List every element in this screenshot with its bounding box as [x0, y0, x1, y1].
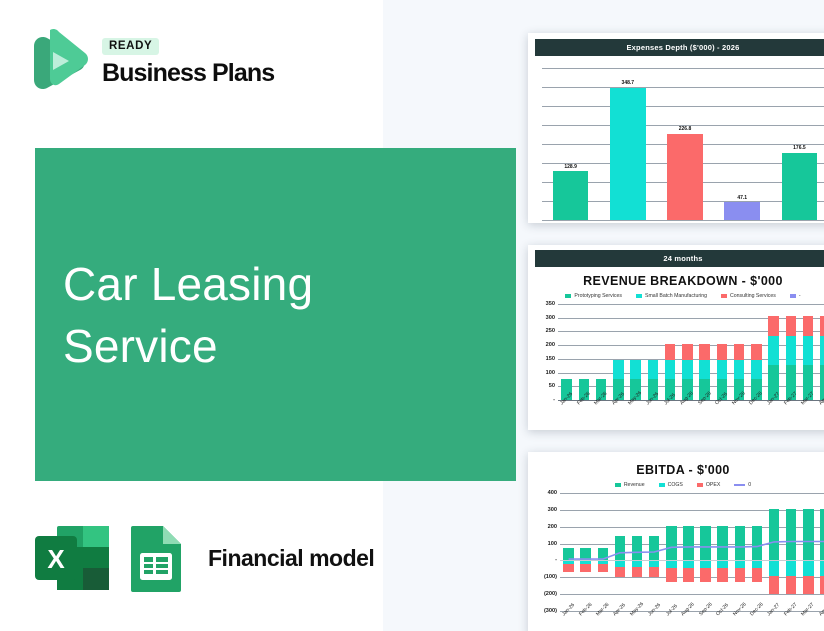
y-axis-tick: - [555, 557, 557, 563]
x-label-slot: Apr-26 [611, 611, 628, 619]
x-label-slot: Dec-26 [748, 611, 765, 619]
expenses-chart-band: Expenses Depth ($'000) - 2026 [535, 39, 824, 56]
x-label-slot: Jun-26 [644, 400, 661, 408]
bar: 348.7 [610, 88, 645, 221]
bar-slot [593, 304, 610, 400]
stacked-bar [803, 316, 814, 400]
ebitda-plot-area: 400300200100-(100)(200)(300) [560, 493, 824, 611]
legend-item: Small Batch Manufacturing [636, 293, 707, 299]
bar-segment [717, 344, 728, 360]
y-axis-tick: 200 [546, 342, 555, 348]
y-axis-tick: 400 [548, 490, 557, 496]
y-axis-tick: 250 [546, 328, 555, 334]
x-label-slot: Jul-26 [663, 611, 680, 619]
x-label-slot: Feb-27 [783, 611, 800, 619]
x-axis-labels: Jan-26Feb-26Mar-26Apr-26May-26Jun-26Jul-… [560, 611, 824, 619]
bar-segment [820, 316, 824, 336]
x-label-slot: Feb-26 [575, 400, 592, 408]
legend-color-swatch [721, 294, 727, 298]
legend-label: Small Batch Manufacturing [645, 293, 707, 299]
x-label-slot: Apr-27 [817, 400, 824, 408]
x-label-slot: Mar-27 [800, 611, 817, 619]
bar-slot [731, 304, 748, 400]
bar-segment [699, 344, 710, 360]
bar-segment [648, 360, 659, 379]
x-label-slot: Aug-26 [679, 400, 696, 408]
bar-segment [665, 360, 676, 379]
bar-group [558, 304, 824, 400]
google-sheets-icon [125, 522, 187, 594]
bar: 226.8 [667, 134, 702, 220]
bar-segment [682, 344, 693, 360]
bar-segment [665, 344, 676, 360]
stacked-bar [768, 316, 779, 400]
y-axis-tick: - [553, 397, 555, 403]
bar-segment [734, 360, 745, 379]
x-label-slot: Mar-27 [800, 400, 817, 408]
bar-segment [682, 360, 693, 379]
bar-slot [627, 304, 644, 400]
bar-value-label: 348.7 [622, 80, 635, 86]
bar-segment [803, 336, 814, 365]
revenue-x-axis: Jan-26Feb-26Mar-26Apr-26May-26Jun-26Jul-… [558, 400, 824, 430]
bar-slot [558, 304, 575, 400]
x-label-slot: Mar-26 [593, 400, 610, 408]
bar-slot [800, 304, 817, 400]
revenue-chart-band: 24 months [535, 250, 824, 267]
legend-line-marker [734, 484, 745, 486]
bar-slot [748, 304, 765, 400]
bar-segment [768, 336, 779, 365]
x-label-slot: May-26 [627, 400, 644, 408]
bar-segment [751, 360, 762, 379]
bar-slot [765, 304, 782, 400]
legend-label: OPEX [706, 482, 720, 488]
legend-item: Revenue [615, 482, 645, 488]
legend-item: - [790, 293, 801, 299]
x-label-slot: Nov-26 [731, 611, 748, 619]
chart-card-ebitda[interactable]: EBITDA - $'000 RevenueCOGSOPEX0 40030020… [528, 452, 824, 631]
y-axis-tick: 150 [546, 356, 555, 362]
legend-color-swatch [790, 294, 796, 298]
x-label-slot: Jul-26 [662, 400, 679, 408]
hero-panel: Car Leasing Service [35, 148, 516, 481]
bar: 176.5 [782, 153, 817, 220]
bar-slot [696, 304, 713, 400]
y-axis-tick: (200) [544, 591, 557, 597]
chart-card-expenses[interactable]: Expenses Depth ($'000) - 2026 128.9348.7… [528, 33, 824, 223]
revenue-plot-area: 35030025020015010050- [558, 304, 824, 400]
bar-slot: 176.5 [771, 68, 824, 220]
bar-segment [699, 360, 710, 379]
brand-name: Business Plans [102, 60, 274, 86]
x-label-slot: Dec-26 [748, 400, 765, 408]
legend-color-swatch [697, 483, 703, 487]
legend-color-swatch [615, 483, 621, 487]
legend-label: Revenue [624, 482, 645, 488]
footer-row: X Financial model [33, 522, 374, 594]
revenue-chart-title: REVENUE BREAKDOWN - $'000 [528, 267, 824, 290]
x-label-slot: Nov-26 [731, 400, 748, 408]
x-label-slot: Feb-26 [577, 611, 594, 619]
x-label-slot: Jun-26 [646, 611, 663, 619]
stacked-bar [786, 316, 797, 400]
bar-segment [786, 316, 797, 336]
brand-lockup: READY Business Plans [28, 26, 274, 96]
bar-slot [662, 304, 679, 400]
bar-group: 128.9348.7226.847.1176.5 [542, 68, 824, 220]
svg-text:X: X [47, 544, 65, 574]
stacked-bar [665, 344, 676, 400]
ebitda-x-axis: Jan-26Feb-26Mar-26Apr-26May-26Jun-26Jul-… [560, 611, 824, 631]
chart-card-revenue[interactable]: 24 months REVENUE BREAKDOWN - $'000 Prot… [528, 245, 824, 430]
play-triangle-logo-icon [28, 26, 90, 96]
slide-root: READY Business Plans Car Leasing Service… [0, 0, 824, 631]
bar-segment [803, 316, 814, 336]
y-axis-tick: (100) [544, 574, 557, 580]
bar-slot [817, 304, 824, 400]
legend-item: 0 [734, 482, 751, 488]
bar-segment [734, 344, 745, 360]
y-axis-tick: (300) [544, 608, 557, 614]
x-label-slot: Jan-26 [560, 611, 577, 619]
y-axis-tick: 100 [546, 370, 555, 376]
bar-segment [613, 360, 624, 379]
bar-value-label: 176.5 [793, 145, 806, 151]
x-label-slot: Jan-26 [558, 400, 575, 408]
legend-label: Prototyping Services [574, 293, 622, 299]
legend-item: Prototyping Services [565, 293, 622, 299]
bar-value-label: 47.1 [737, 195, 747, 201]
microsoft-excel-icon: X [33, 522, 113, 594]
y-axis-tick: 300 [548, 507, 557, 513]
x-label-slot: Sep-26 [696, 400, 713, 408]
x-label-slot: Mar-26 [594, 611, 611, 619]
bar-slot [679, 304, 696, 400]
x-label-slot: Oct-26 [713, 400, 730, 408]
x-axis-labels: Jan-26Feb-26Mar-26Apr-26May-26Jun-26Jul-… [558, 400, 824, 408]
x-label-slot: Jan-27 [766, 611, 783, 619]
revenue-chart-legend: Prototyping ServicesSmall Batch Manufact… [528, 290, 824, 301]
bar-segment [630, 360, 641, 379]
bar-slot [575, 304, 592, 400]
ebitda-chart-title: EBITDA - $'000 [528, 452, 824, 479]
legend-color-swatch [565, 294, 571, 298]
legend-label: 0 [748, 482, 751, 488]
bar-segment [768, 316, 779, 336]
bar-value-label: 226.8 [679, 126, 692, 132]
y-axis-tick: 300 [546, 315, 555, 321]
page-title: Car Leasing Service [63, 254, 313, 377]
y-axis-tick: 100 [548, 541, 557, 547]
x-label-slot: Oct-26 [714, 611, 731, 619]
bar-value-label: 128.9 [564, 164, 577, 170]
expenses-plot-area: 128.9348.7226.847.1176.5 [542, 68, 824, 220]
x-label-slot: May-26 [629, 611, 646, 619]
bar-segment [717, 360, 728, 379]
legend-color-swatch [659, 483, 665, 487]
stacked-bar [820, 316, 824, 400]
bar-slot [644, 304, 661, 400]
legend-color-swatch [636, 294, 642, 298]
x-label-slot: Apr-27 [817, 611, 824, 619]
bar-slot: 348.7 [599, 68, 656, 220]
legend-item: Consulting Services [721, 293, 776, 299]
bar-slot: 226.8 [656, 68, 713, 220]
bar-slot: 128.9 [542, 68, 599, 220]
x-label-slot: Feb-27 [782, 400, 799, 408]
x-label-slot: Apr-26 [610, 400, 627, 408]
brand-text: READY Business Plans [102, 36, 274, 86]
legend-label: COGS [668, 482, 683, 488]
bar: 128.9 [553, 171, 588, 220]
bar-slot [610, 304, 627, 400]
x-label-slot: Jan-27 [765, 400, 782, 408]
bar: 47.1 [724, 202, 759, 220]
x-label-slot: Sep-26 [697, 611, 714, 619]
x-label-slot: Aug-26 [680, 611, 697, 619]
y-axis-tick: 200 [548, 524, 557, 530]
legend-item: COGS [659, 482, 683, 488]
legend-label: Consulting Services [730, 293, 776, 299]
ebitda-chart-legend: RevenueCOGSOPEX0 [528, 479, 824, 490]
bar-slot [782, 304, 799, 400]
bar-segment [820, 336, 824, 365]
legend-label: - [799, 293, 801, 299]
bar-slot [713, 304, 730, 400]
y-axis-tick: 50 [549, 383, 555, 389]
legend-item: OPEX [697, 482, 720, 488]
gridline [542, 220, 824, 221]
trend-line [560, 493, 824, 611]
bar-slot: 47.1 [714, 68, 771, 220]
y-axis-tick: 350 [546, 301, 555, 307]
bar-segment [751, 344, 762, 360]
footer-label: Financial model [208, 545, 374, 572]
bar-segment [786, 336, 797, 365]
ready-badge: READY [102, 38, 159, 55]
